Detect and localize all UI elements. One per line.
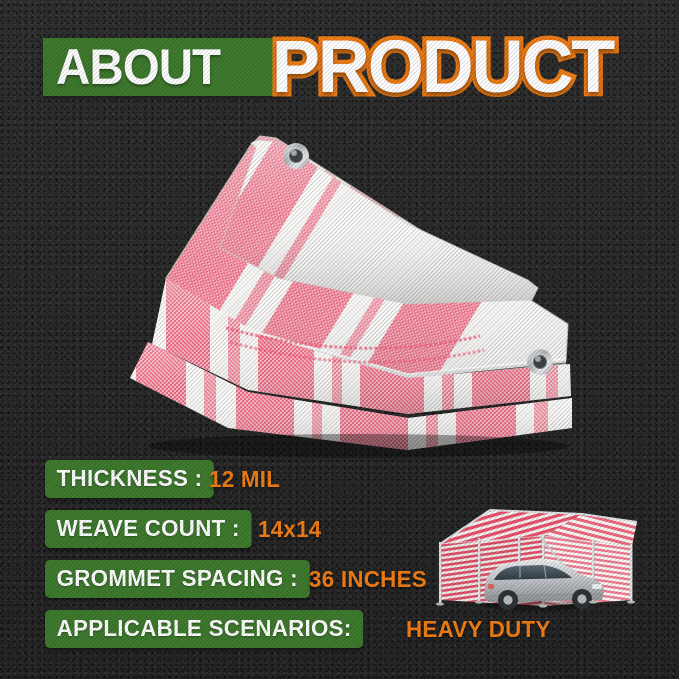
spec-value-grommet-spacing: 36 INCHES — [309, 560, 427, 598]
spec-label-grommet-spacing: GROMMET SPACING : — [45, 560, 310, 598]
grommet-right — [527, 349, 553, 375]
spec-label-thickness: THICKNESS : — [45, 460, 214, 498]
product-photo-tarp — [108, 128, 578, 458]
spec-label-weave-count: WEAVE COUNT : — [45, 510, 251, 548]
header-banner: ABOUT PRODUCT PRODUCT — [0, 26, 679, 104]
spec-value-thickness: 12 MIL — [209, 460, 280, 498]
grommet-top — [283, 143, 309, 169]
spec-row-applicable-scenarios: APPLICABLE SCENARIOS: HEAVY DUTY — [0, 610, 679, 660]
header-word-about: ABOUT — [56, 40, 220, 94]
spec-value-applicable-scenarios: HEAVY DUTY — [406, 610, 551, 648]
infographic-canvas: ABOUT PRODUCT PRODUCT — [0, 0, 679, 679]
usage-photo-carport — [432, 500, 664, 615]
spec-value-weave-count: 14x14 — [258, 510, 322, 548]
header-word-product: PRODUCT — [272, 28, 613, 106]
spec-label-applicable-scenarios: APPLICABLE SCENARIOS: — [45, 610, 363, 648]
